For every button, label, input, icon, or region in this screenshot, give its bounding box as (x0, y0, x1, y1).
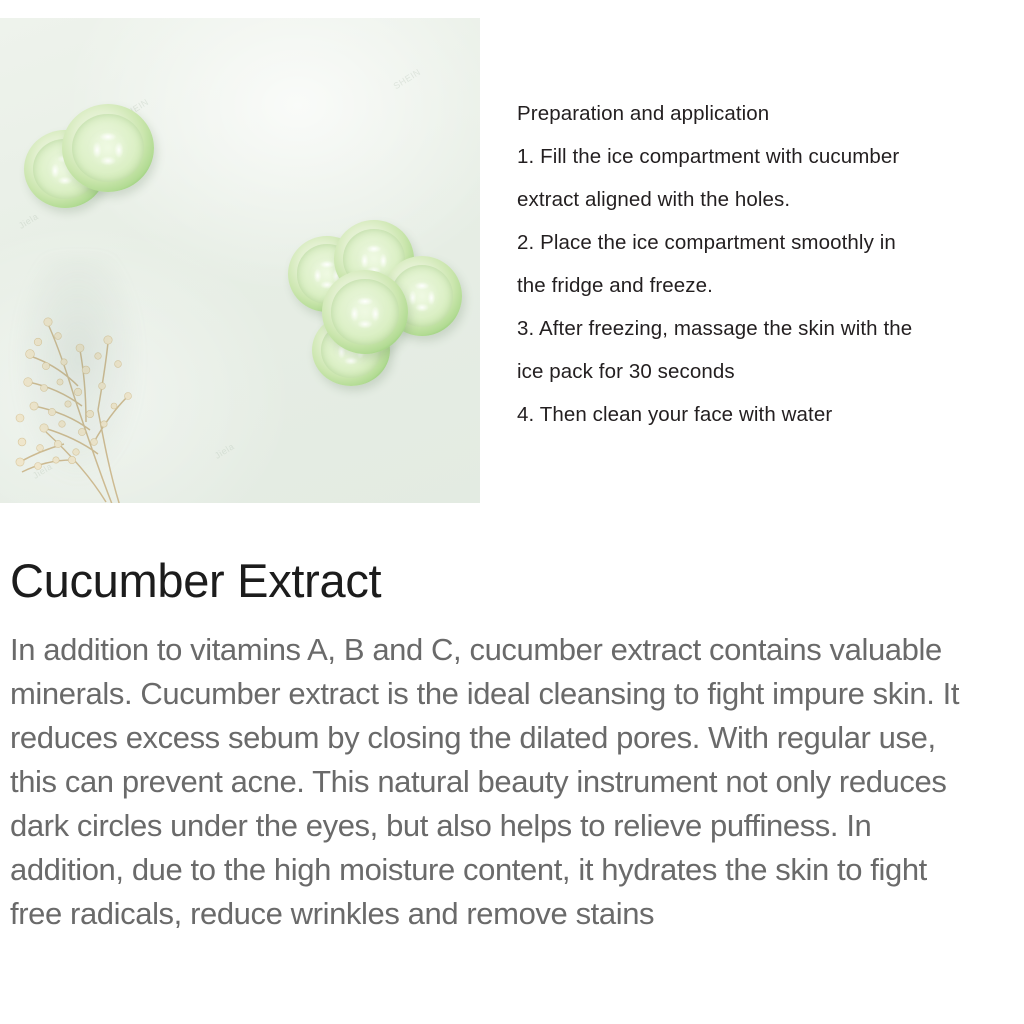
sprig-shadow (12, 256, 144, 486)
instruction-step-line: extract aligned with the holes. (517, 178, 1022, 221)
preparation-instructions: Preparation and application 1. Fill the … (517, 92, 1022, 436)
instruction-step-line: 2. Place the ice compartment smoothly in (517, 221, 1022, 264)
instruction-step-line: ice pack for 30 seconds (517, 350, 1022, 393)
instruction-step-line: 3. After freezing, massage the skin with… (517, 307, 1022, 350)
description-section: Cucumber Extract In addition to vitamins… (10, 552, 1010, 936)
instruction-step-line: 4. Then clean your face with water (517, 393, 1022, 436)
instructions-heading: Preparation and application (517, 92, 1022, 135)
page-title: Cucumber Extract (10, 552, 1010, 610)
instruction-step-line: the fridge and freeze. (517, 264, 1022, 307)
top-section: Jiela SHEIN Jiela SHEIN Jiela (0, 0, 1024, 520)
cucumber-slice (62, 104, 154, 192)
cucumber-slice (322, 270, 408, 354)
dried-flower-sprig (0, 246, 162, 503)
description-body: In addition to vitamins A, B and C, cucu… (10, 628, 978, 936)
instruction-step-line: 1. Fill the ice compartment with cucumbe… (517, 135, 1022, 178)
product-photo: Jiela SHEIN Jiela SHEIN Jiela (0, 18, 480, 503)
